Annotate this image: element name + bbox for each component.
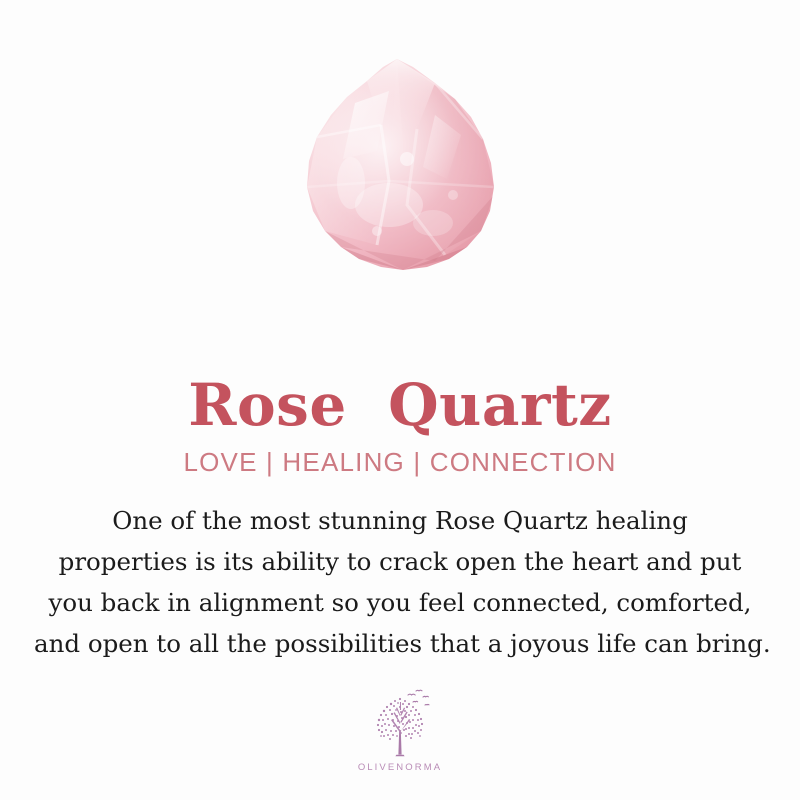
page-title: Rose Quartz — [0, 375, 800, 436]
crystal-body — [285, 55, 515, 285]
description-line: One of the most stunning Rose Quartz hea… — [34, 500, 766, 541]
birds-icon — [408, 690, 429, 705]
product-info-card: Rose Quartz LOVE | HEALING | CONNECTION … — [0, 0, 800, 800]
description-line: properties is its ability to crack open … — [34, 541, 766, 582]
hero-image-container — [0, 55, 800, 285]
description-text: One of the most stunning Rose Quartz hea… — [34, 500, 766, 664]
description-line: and open to all the possibilities that a… — [34, 623, 766, 664]
rose-quartz-crystal-icon — [285, 55, 515, 285]
tree-of-life-icon — [363, 686, 437, 760]
description-line: you back in alignment so you feel connec… — [34, 582, 766, 623]
brand-wordmark: OLIVENORMA — [358, 762, 442, 773]
brand-logo[interactable]: OLIVENORMA — [0, 686, 800, 773]
keyword-subtitle: LOVE | HEALING | CONNECTION — [0, 447, 800, 478]
